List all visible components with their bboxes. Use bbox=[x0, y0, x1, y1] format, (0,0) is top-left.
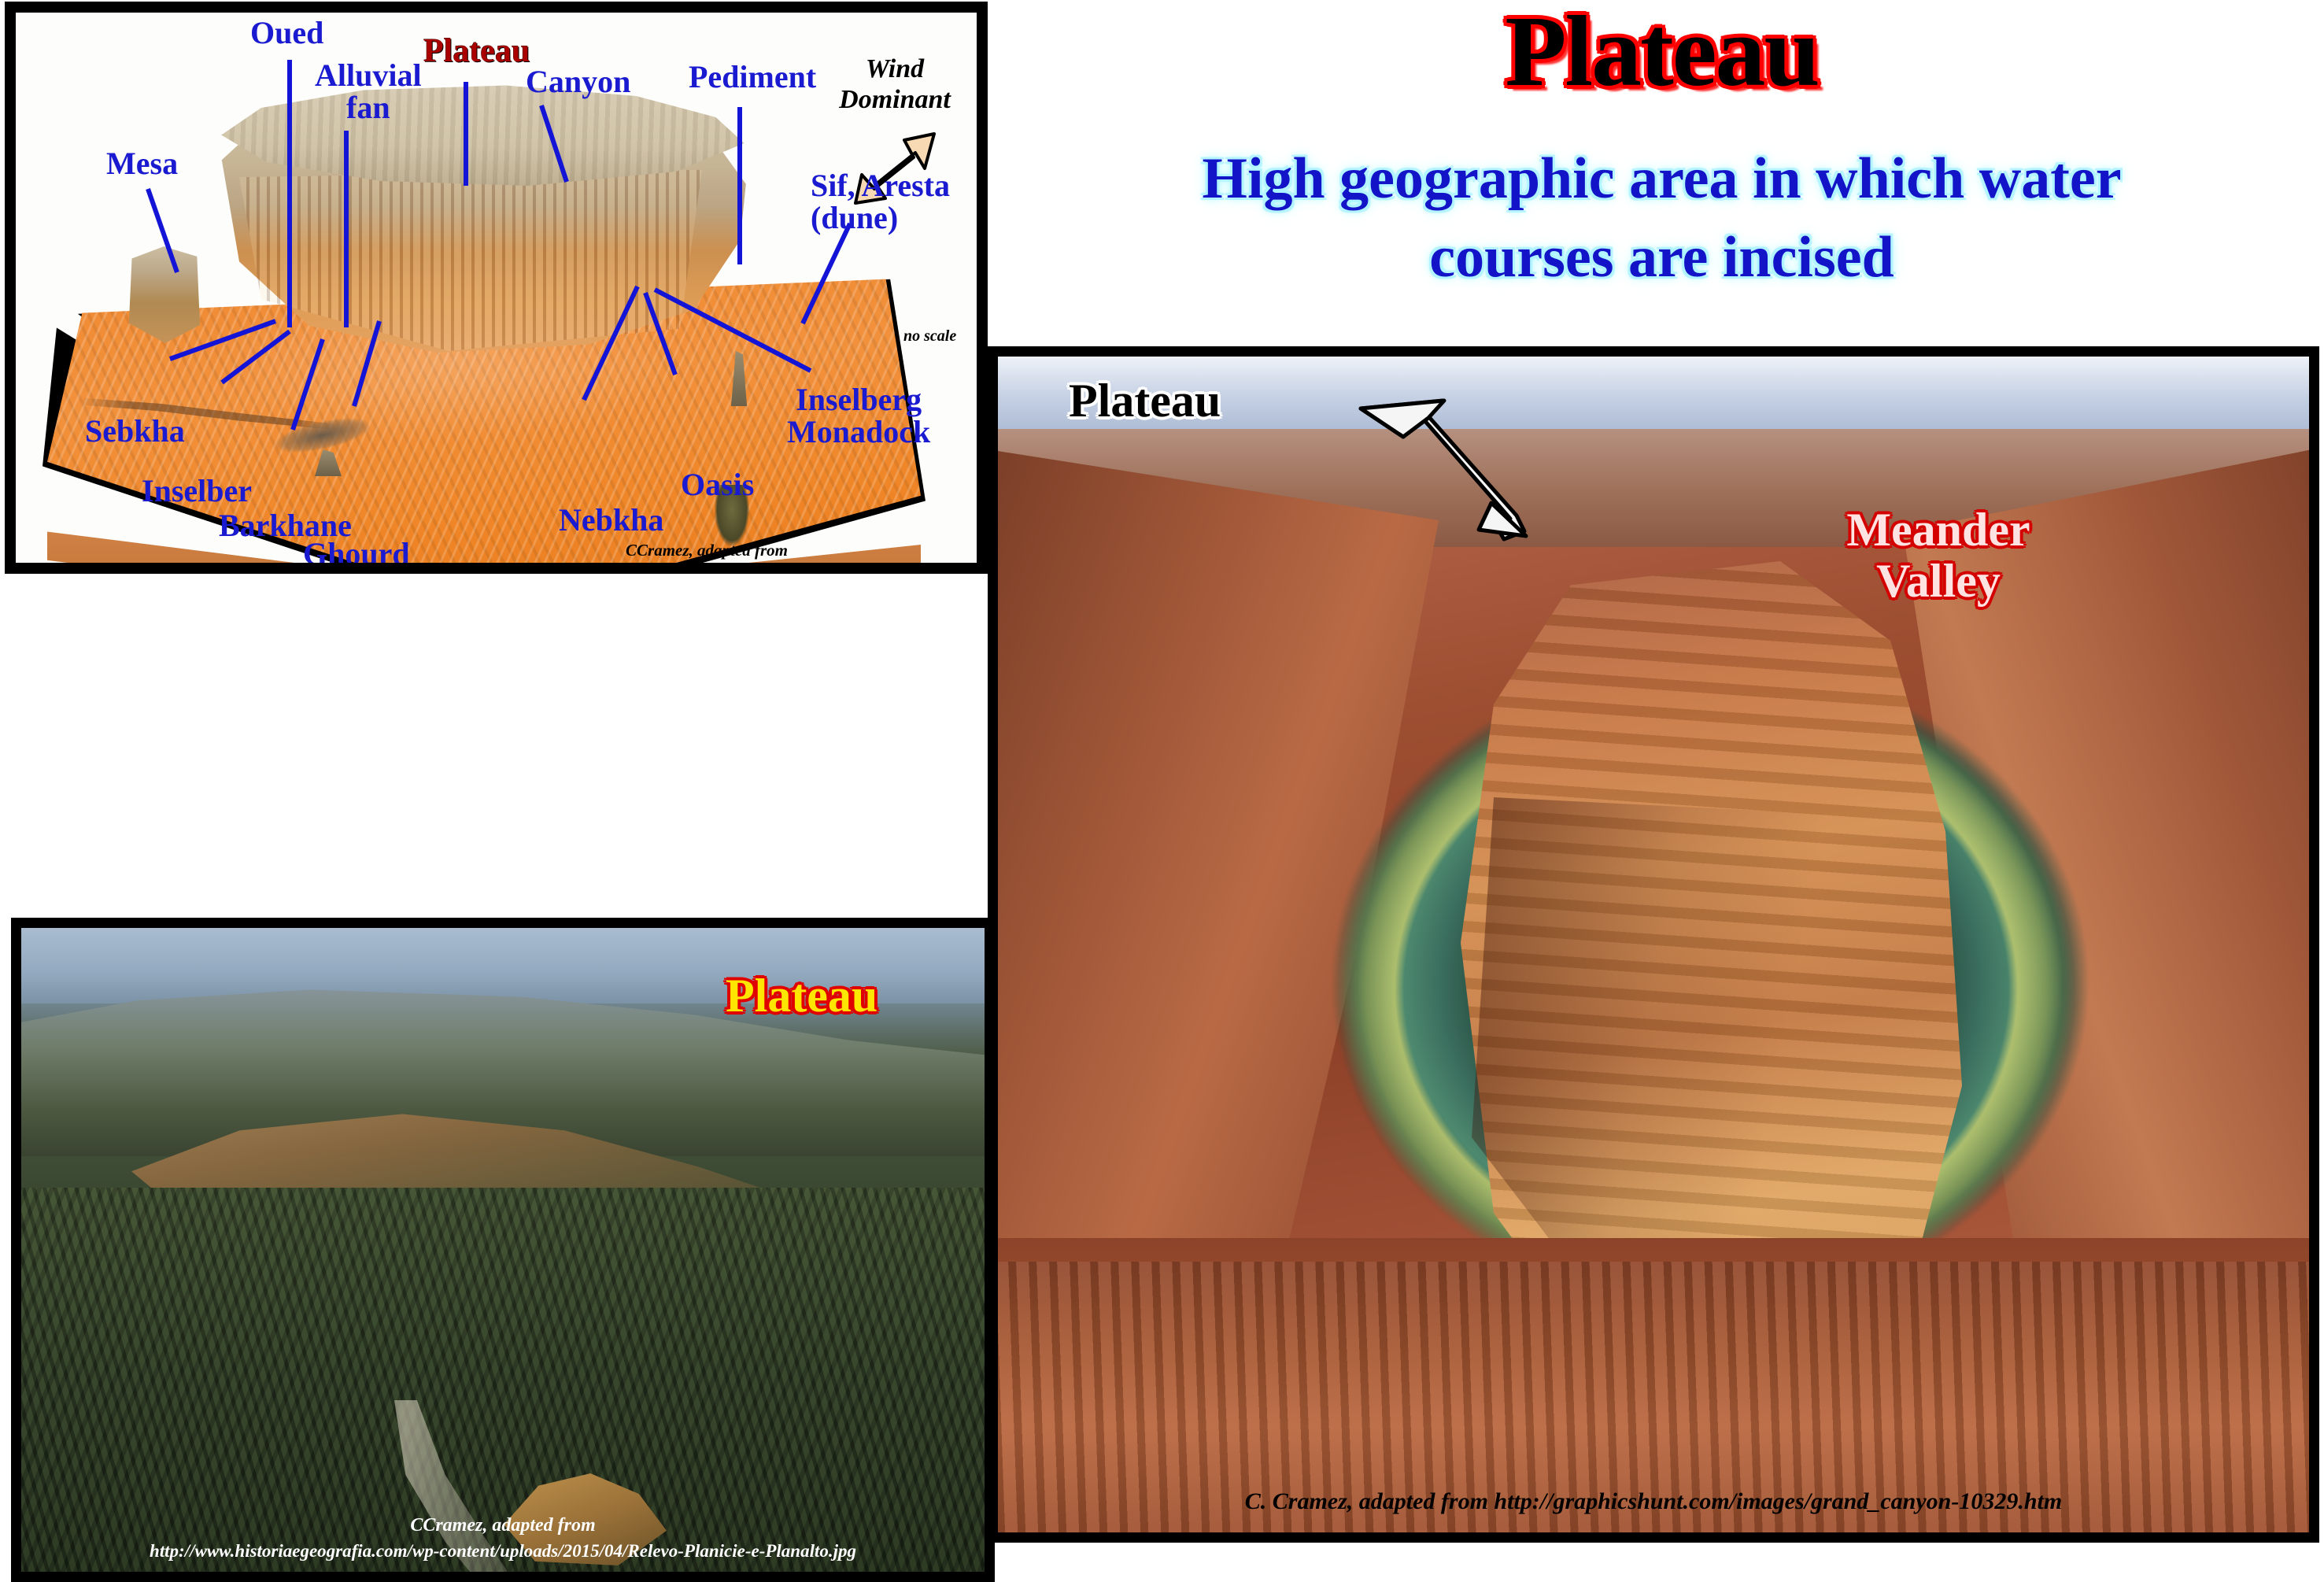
no-scale-note: no scale bbox=[903, 327, 956, 346]
credit-line1: CCramez, adapted from bbox=[626, 541, 788, 560]
block-diagram-illustration: WindDominant Mesa Oued Alluvial fan Plat… bbox=[16, 13, 977, 563]
wind-label-line2: Dominant bbox=[839, 85, 951, 114]
label-oued: Oued bbox=[250, 17, 323, 50]
block-diagram-panel: WindDominant Mesa Oued Alluvial fan Plat… bbox=[5, 2, 988, 574]
credit-line2: http://www.historiaegeografia.com/wp-con… bbox=[150, 1541, 856, 1561]
down-right-arrow-icon bbox=[1356, 385, 1553, 542]
photo-left-plateau-label: Plateau bbox=[726, 969, 878, 1023]
label-oasis: Oasis bbox=[681, 469, 754, 501]
label-inselberg-monadock: Inselberg Monadock bbox=[787, 384, 930, 449]
planalto-photo: Plateau CCramez, adapted from http://www… bbox=[21, 928, 985, 1572]
label-alluvial-fan: Alluvial fan bbox=[315, 60, 422, 124]
label-barkhane: Barkhane bbox=[219, 510, 352, 542]
horseshoe-bend-photo: Plateau Meander Valley C. Cramez, adapte… bbox=[998, 357, 2309, 1532]
subtitle-line-2: courses are incised bbox=[999, 224, 2324, 291]
subtitle-line-1: High geographic area in which water bbox=[999, 146, 2324, 213]
photo-right-plateau-label: Plateau bbox=[1069, 374, 1221, 428]
block-diagram-credit: CCramez, adapted from http://www.larouss… bbox=[455, 540, 959, 574]
horseshoe-bend-photo-panel: Plateau Meander Valley C. Cramez, adapte… bbox=[988, 346, 2319, 1543]
label-sebkha: Sebkha bbox=[85, 416, 185, 448]
credit-line2: http://www.larousse.fr/encyclopedie/data… bbox=[508, 561, 905, 574]
label-inselber: Inselber bbox=[142, 475, 252, 508]
photo-left-credit: CCramez, adapted from http://www.histori… bbox=[21, 1513, 985, 1564]
label-ghourd: Ghourd bbox=[303, 538, 410, 571]
meander-label-line1: Meander bbox=[1846, 504, 2030, 556]
label-sif-aresta-dune: Sif, Aresta (dune) bbox=[811, 170, 950, 235]
photo-right-meander-valley-label: Meander Valley bbox=[1809, 505, 2068, 607]
label-nebkha: Nebkha bbox=[559, 505, 663, 537]
label-plateau: Plateau bbox=[423, 35, 530, 68]
wind-dominant-label: WindDominant bbox=[836, 54, 954, 115]
wind-label-line1: Wind bbox=[866, 54, 924, 83]
label-mesa: Mesa bbox=[106, 148, 178, 180]
title-zone: Plateau High geographic area in which wa… bbox=[999, 0, 2324, 331]
planalto-photo-panel: Plateau CCramez, adapted from http://www… bbox=[11, 918, 995, 1582]
credit-line1: CCramez, adapted from bbox=[410, 1515, 595, 1536]
mesa-outlier bbox=[127, 242, 200, 343]
meander-label-line2: Valley bbox=[1876, 555, 2001, 607]
label-pediment: Pediment bbox=[689, 61, 816, 94]
photo-right-credit: C. Cramez, adapted from http://graphicsh… bbox=[998, 1488, 2309, 1515]
page-title: Plateau bbox=[999, 0, 2324, 109]
label-canyon: Canyon bbox=[526, 66, 630, 98]
